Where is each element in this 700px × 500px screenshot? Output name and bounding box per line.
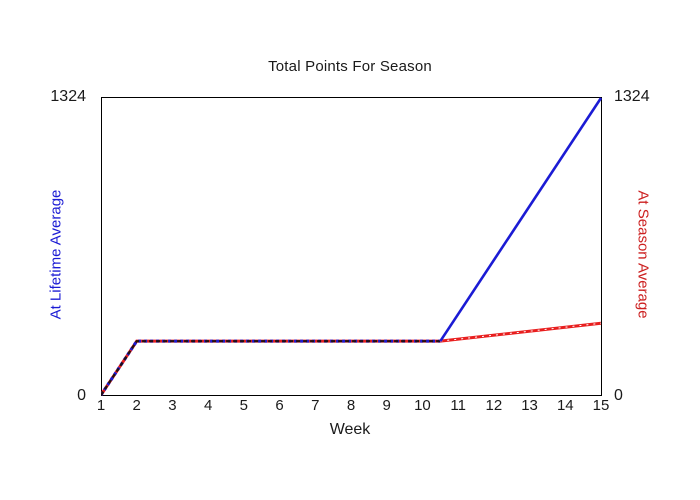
x-tick-label: 9 — [383, 397, 391, 414]
x-tick-label: 8 — [347, 397, 355, 414]
x-tick-label: 3 — [168, 397, 176, 414]
x-tick-label: 15 — [593, 397, 610, 414]
y-axis-right-max-label: 1324 — [614, 88, 650, 106]
y-axis-left-title: At Lifetime Average — [48, 155, 65, 355]
overlap-segment — [101, 341, 440, 395]
x-axis-tick-labels: 123456789101112131415 — [101, 397, 602, 419]
x-axis-title: Week — [0, 421, 700, 439]
x-tick-label: 13 — [521, 397, 538, 414]
y-axis-right-min-label: 0 — [614, 387, 623, 405]
x-tick-label: 6 — [275, 397, 283, 414]
plot-area — [101, 97, 602, 396]
y-axis-left-min-label: 0 — [77, 387, 86, 405]
series-lifetime-average — [440, 98, 601, 341]
x-tick-label: 2 — [133, 397, 141, 414]
x-tick-label: 4 — [204, 397, 212, 414]
y-axis-left-max-label: 1324 — [50, 88, 86, 106]
series-season-average — [440, 323, 601, 341]
x-tick-label: 12 — [486, 397, 503, 414]
chart-title: Total Points For Season — [0, 58, 700, 75]
x-tick-label: 1 — [97, 397, 105, 414]
x-tick-label: 11 — [450, 397, 466, 414]
overlap-dashes — [101, 341, 440, 395]
x-tick-label: 14 — [557, 397, 574, 414]
x-tick-label: 7 — [311, 397, 319, 414]
x-tick-label: 5 — [240, 397, 248, 414]
overlap-underlay — [101, 341, 440, 395]
chart-container: Total Points For Season 1324 0 1324 0 At… — [0, 0, 700, 500]
y-axis-right-title: At Season Average — [635, 155, 652, 355]
x-tick-label: 10 — [414, 397, 431, 414]
